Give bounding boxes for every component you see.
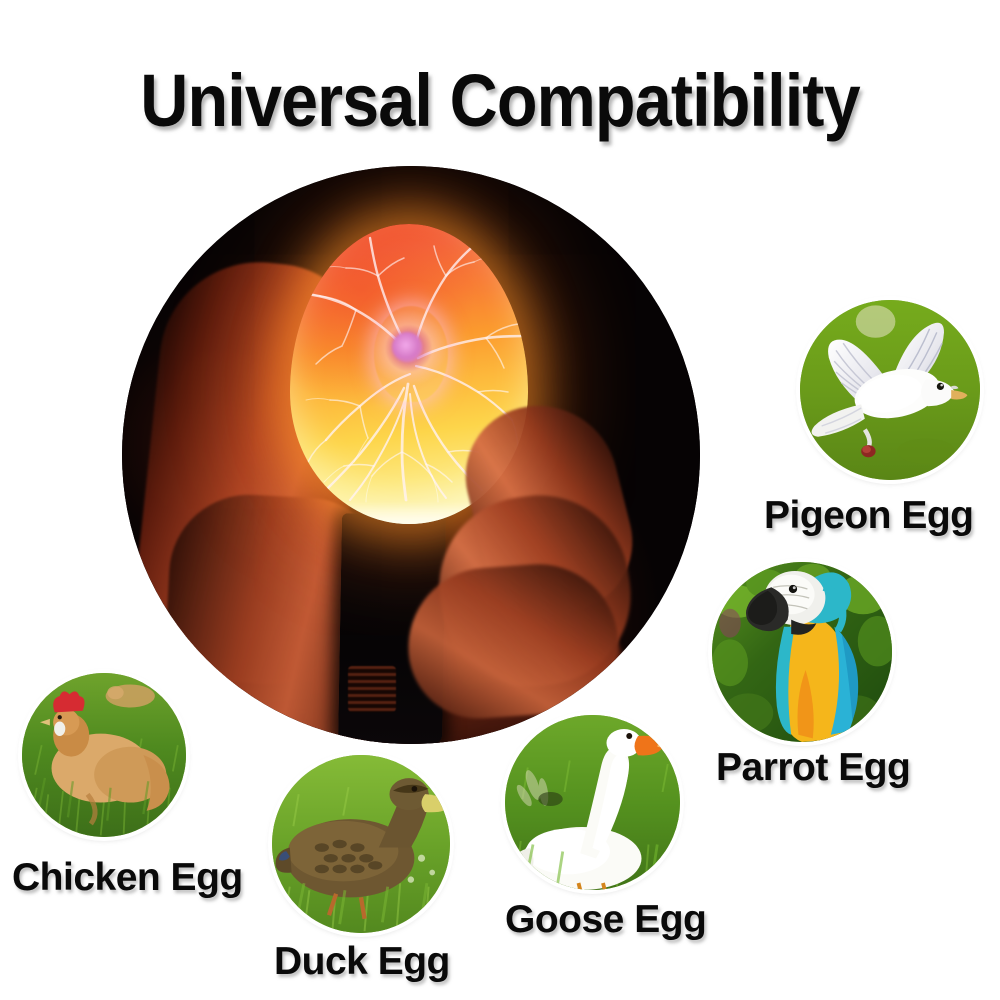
chip-label-parrot: Parrot Egg <box>716 747 910 789</box>
pigeon-photo-icon <box>800 300 980 480</box>
chicken-photo-icon <box>22 673 186 837</box>
chip-label-goose: Goose Egg <box>505 899 706 941</box>
chip-pigeon-egg[interactable] <box>800 300 980 480</box>
hero-egg-candler-circle <box>122 166 700 744</box>
page-title: Universal Compatibility <box>50 62 950 140</box>
duck-photo-icon <box>272 755 450 933</box>
product-infographic: Universal Compatibility <box>0 0 1000 1000</box>
chip-duck-egg[interactable] <box>272 755 450 933</box>
goose-photo-icon <box>505 715 680 890</box>
chip-chicken-egg[interactable] <box>22 673 186 837</box>
candler-device-grip <box>348 666 396 712</box>
chip-label-chicken: Chicken Egg <box>12 857 243 899</box>
chip-label-duck: Duck Egg <box>274 941 450 983</box>
egg-embryo-core <box>392 332 422 362</box>
chip-label-pigeon: Pigeon Egg <box>764 495 974 537</box>
parrot-photo-icon <box>712 562 892 742</box>
chip-parrot-egg[interactable] <box>712 562 892 742</box>
chip-goose-egg[interactable] <box>505 715 680 890</box>
